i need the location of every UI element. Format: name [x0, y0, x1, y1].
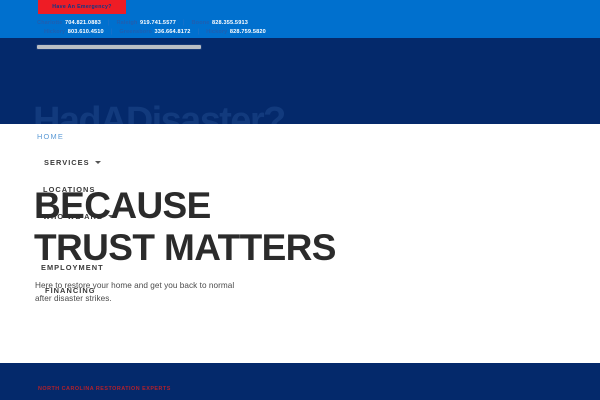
contact-phone: 828.355.5913 — [212, 19, 248, 28]
chevron-down-icon — [95, 161, 101, 164]
contact-phone: 336.664.8172 — [155, 28, 191, 37]
contact-city: Hickory — [206, 28, 227, 37]
contact-list: Charlotte 704.821.0883 | Raleigh 919.741… — [0, 19, 600, 37]
nav-item-who-we-are[interactable]: WHO WE ARE — [43, 212, 114, 221]
top-contact-bar: Have An Emergency? Charlotte 704.821.088… — [0, 0, 600, 38]
emergency-button[interactable]: Have An Emergency? — [38, 0, 126, 14]
contact-city: Greensboro — [119, 28, 152, 37]
nav-label: HOME — [37, 132, 64, 141]
nav-item-employment[interactable]: EMPLOYMENT — [41, 263, 104, 272]
site-logo[interactable]: HadADisaster? — [33, 102, 285, 124]
contact-phone: 919.741.5577 — [140, 19, 176, 28]
contact-row: Hickory 803.610.4510 | Greensboro 336.66… — [0, 28, 600, 37]
nav-label: LOCATIONS — [43, 185, 95, 194]
footer-band — [0, 363, 600, 400]
nav-label: SERVICES — [44, 158, 90, 167]
page-loading-bar — [37, 45, 201, 49]
main-navigation: HOME SERVICES LOCATIONS WHO WE ARE EMPLO… — [0, 124, 600, 363]
nav-label: FINANCING — [45, 286, 96, 295]
contact-city: Charlotte — [37, 19, 62, 28]
contact-item-boone[interactable]: Boone 828.355.5913 — [192, 19, 248, 28]
contact-item-charlotte[interactable]: Charlotte 704.821.0883 — [37, 19, 101, 28]
separator: | — [108, 19, 110, 28]
contact-item-hickory-1[interactable]: Hickory 803.610.4510 — [44, 28, 104, 37]
nav-label: WHO WE ARE — [43, 212, 103, 221]
contact-city: Raleigh — [117, 19, 138, 28]
contact-item-hickory-2[interactable]: Hickory 828.759.5820 — [206, 28, 266, 37]
footer-tagline: NORTH CAROLINA RESTORATION EXPERTS — [38, 386, 171, 392]
chevron-down-icon — [108, 215, 114, 218]
separator: | — [111, 28, 113, 37]
contact-city: Hickory — [44, 28, 65, 37]
nav-item-locations[interactable]: LOCATIONS — [43, 185, 95, 194]
nav-item-services[interactable]: SERVICES — [44, 158, 101, 167]
contact-item-raleigh[interactable]: Raleigh 919.741.5577 — [117, 19, 176, 28]
contact-city: Boone — [192, 19, 210, 28]
contact-phone: 704.821.0883 — [65, 19, 101, 28]
contact-item-greensboro[interactable]: Greensboro 336.664.8172 — [119, 28, 190, 37]
separator: | — [183, 19, 185, 28]
contact-phone: 828.759.5820 — [230, 28, 266, 37]
brand-band: HadADisaster? — [0, 38, 600, 124]
nav-item-home[interactable]: HOME — [37, 132, 64, 141]
contact-phone: 803.610.4510 — [68, 28, 104, 37]
nav-item-financing[interactable]: FINANCING — [45, 286, 96, 295]
separator: | — [198, 28, 200, 37]
contact-row: Charlotte 704.821.0883 | Raleigh 919.741… — [0, 19, 600, 28]
nav-label: EMPLOYMENT — [41, 263, 104, 272]
